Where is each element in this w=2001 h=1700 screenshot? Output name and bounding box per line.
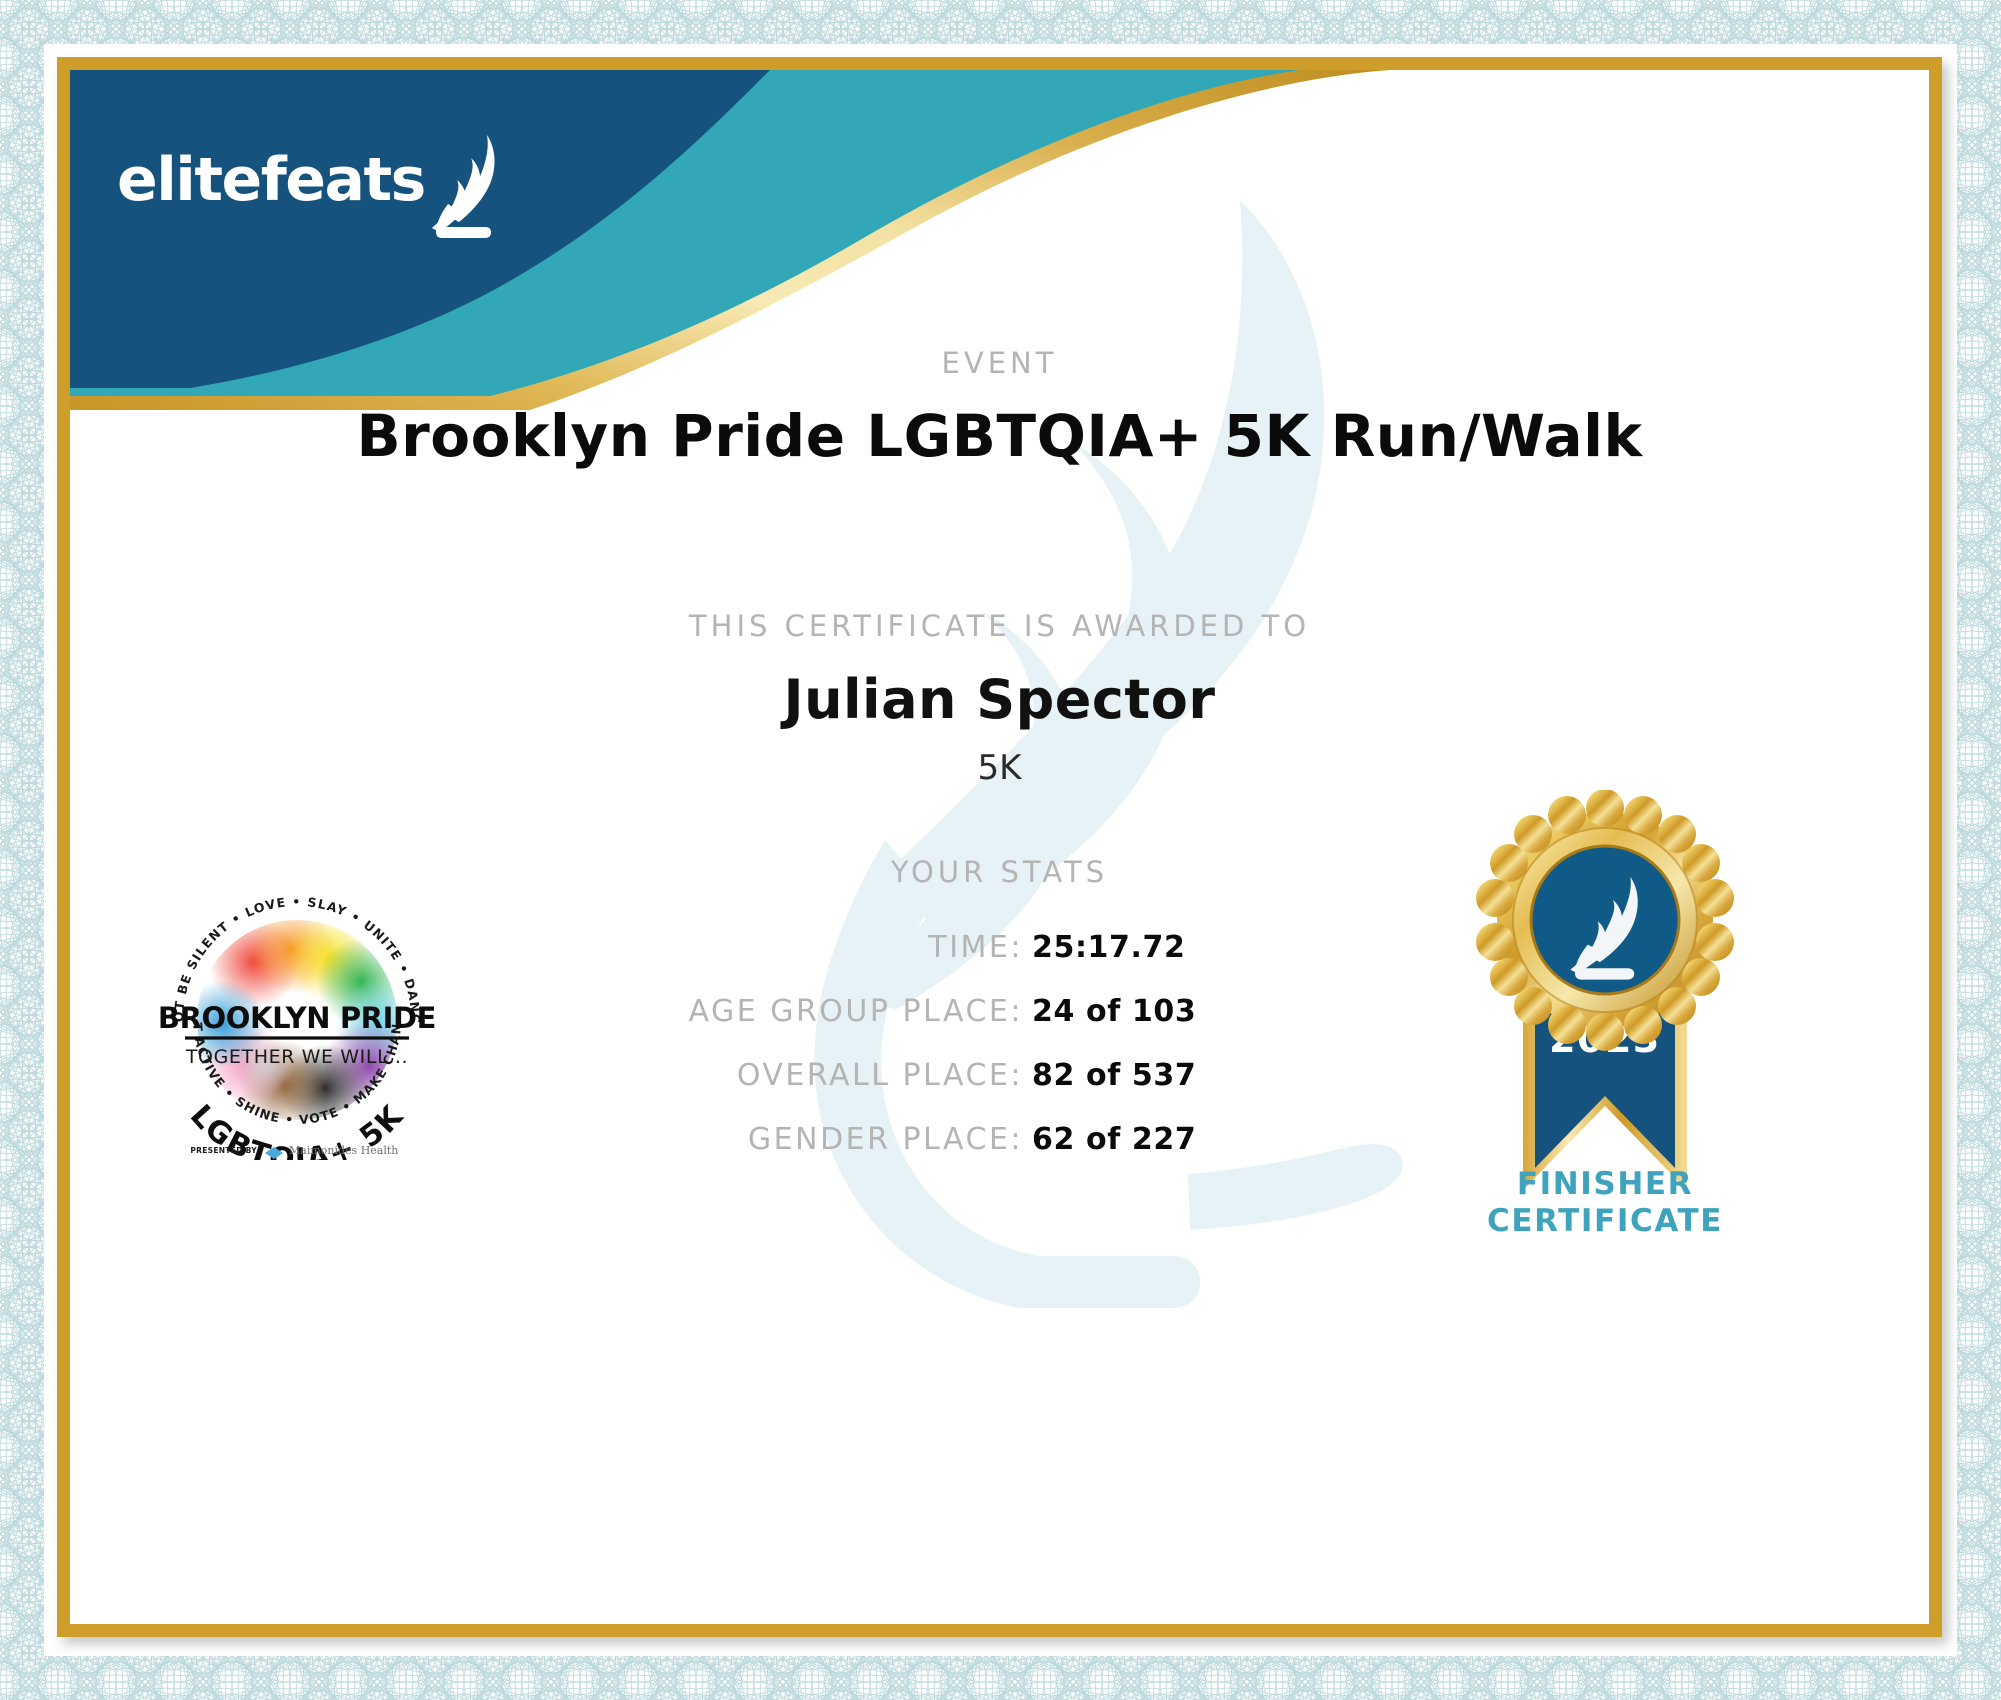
finisher-certificate-caption: FINISHER CERTIFICATE	[1438, 1166, 1772, 1239]
stat-row-gender-place: GENDER PLACE: 62 of 227	[460, 1122, 1292, 1175]
stat-value-time: 25:17.72	[1032, 930, 1292, 965]
finisher-caption-line1: FINISHER	[1438, 1166, 1772, 1203]
awarded-to-label: THIS CERTIFICATE IS AWARDED TO	[70, 609, 1929, 643]
stat-value-age-group-place: 24 of 103	[1032, 994, 1292, 1029]
stat-row-time: TIME: 25:17.72	[460, 930, 1292, 983]
stat-label-age-group-place: AGE GROUP PLACE:	[688, 994, 1023, 1029]
medal-rosette	[1476, 790, 1734, 1051]
sponsor-name: Maimonides Health	[289, 1144, 398, 1157]
stat-label-time: TIME:	[928, 930, 1023, 965]
presented-by-label: PRESENTED BY	[190, 1146, 257, 1155]
stat-value-gender-place: 62 of 227	[1032, 1122, 1292, 1157]
certificate-inner: elitefeats EVENT Brooklyn Pride LGBTQIA+…	[70, 70, 1929, 1624]
event-logo-tagline: TOGETHER WE WILL...	[185, 1046, 408, 1068]
certificate-content: EVENT Brooklyn Pride LGBTQIA+ 5K Run/Wal…	[70, 70, 1929, 1624]
stat-label-overall-place: OVERALL PLACE:	[737, 1058, 1023, 1093]
certificate-frame: elitefeats EVENT Brooklyn Pride LGBTQIA+…	[57, 57, 1942, 1637]
stats-table: TIME: 25:17.72 AGE GROUP PLACE: 24 of 10…	[460, 930, 1292, 1186]
recipient-name: Julian Spector	[70, 668, 1929, 731]
stat-label-gender-place: GENDER PLACE:	[748, 1122, 1023, 1157]
brooklyn-pride-event-logo: NOT BE SILENT • LOVE • SLAY • UNITE • DA…	[147, 870, 447, 1160]
finisher-caption-line2: CERTIFICATE	[1438, 1203, 1772, 1240]
stat-value-overall-place: 82 of 537	[1032, 1058, 1292, 1093]
event-logo-title: BROOKLYN PRIDE	[158, 1001, 436, 1035]
event-label: EVENT	[70, 346, 1929, 380]
event-title: Brooklyn Pride LGBTQIA+ 5K Run/Walk	[70, 402, 1929, 470]
stat-row-overall-place: OVERALL PLACE: 82 of 537	[460, 1058, 1292, 1111]
stat-row-age-group-place: AGE GROUP PLACE: 24 of 103	[460, 994, 1292, 1047]
recipient-distance: 5K	[70, 748, 1929, 788]
certificate-page: elitefeats EVENT Brooklyn Pride LGBTQIA+…	[0, 0, 2001, 1700]
